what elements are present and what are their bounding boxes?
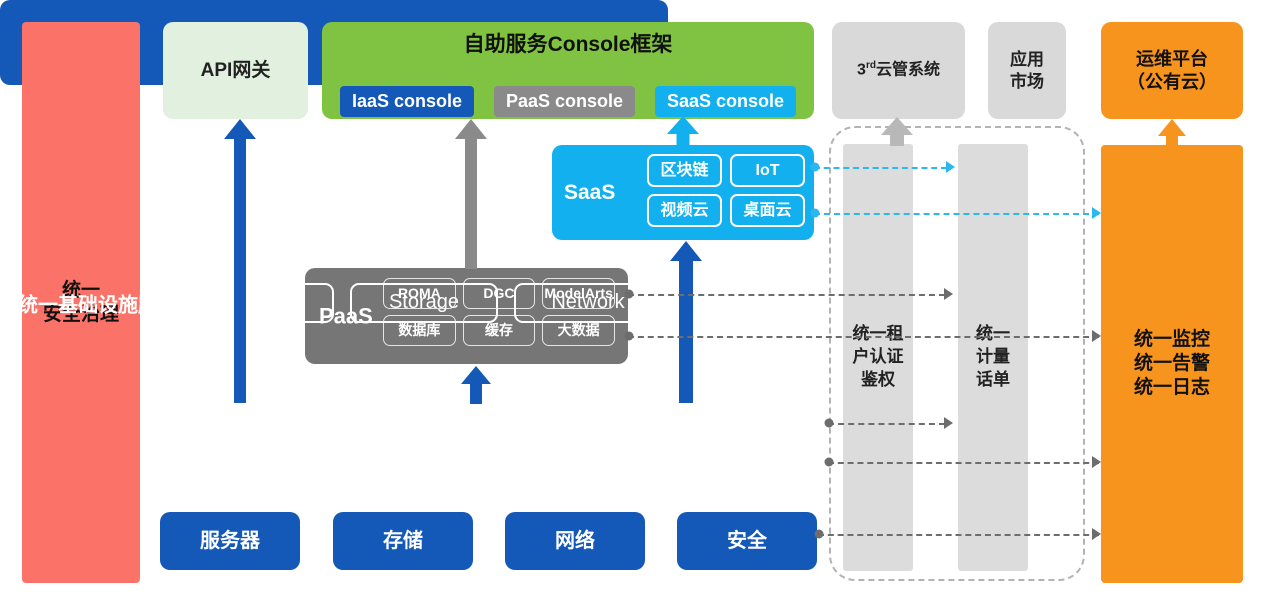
saas-service-video-cloud[interactable]: 视频云 — [647, 194, 722, 227]
hardware-network-box: 网络 — [505, 512, 645, 570]
arrow-saas-to-console — [667, 116, 699, 146]
dashed-start-dot — [625, 290, 634, 299]
arrow-head-up-icon — [461, 366, 491, 384]
dashed-start-dot — [825, 458, 834, 467]
self-service-console-frame: 自助服务Console框架 IaaS console PaaS console … — [322, 22, 814, 119]
hardware-server-label: 服务器 — [200, 529, 260, 554]
iaas-console-pill[interactable]: IaaS console — [340, 86, 474, 117]
arrow-head-right-icon — [1092, 207, 1101, 219]
dashed-saas-to-metering — [814, 167, 947, 169]
hardware-security-box: 安全 — [677, 512, 817, 570]
console-pill-group: IaaS console PaaS console SaaS console — [322, 86, 814, 117]
saas-service-iot[interactable]: IoT — [730, 154, 805, 187]
console-frame-title: 自助服务Console框架 — [322, 32, 814, 58]
application-market-box: 应用 市场 — [988, 22, 1066, 119]
application-market-label: 应用 市场 — [1010, 49, 1044, 92]
ops-platform-label: 运维平台 （公有云） — [1127, 48, 1217, 93]
saas-layer-label: SaaS — [564, 179, 615, 205]
infrastructure-service-group: Compute Storage Network CCE — [186, 283, 826, 323]
dashed-paas-to-ops — [628, 336, 1099, 338]
third-party-system-label: 3rd云管系统 — [857, 60, 940, 80]
ops-platform-public-cloud-box: 运维平台 （公有云） — [1101, 22, 1243, 119]
hardware-server-box: 服务器 — [160, 512, 300, 570]
arrow-head-right-icon — [944, 417, 953, 429]
arrow-head-up-icon — [667, 116, 699, 134]
arrow-infra-to-api-gateway — [224, 119, 256, 403]
dashed-infra-to-ops — [828, 462, 1099, 464]
arrow-head-right-icon — [946, 161, 955, 173]
unified-infrastructure-label: 统一基础设施服务 — [18, 288, 178, 317]
unified-monitoring-alarm-log-pillar: 统一监控 统一告警 统一日志 — [1101, 145, 1243, 583]
dashed-start-dot — [811, 209, 820, 218]
dashed-hardware-to-ops — [818, 534, 1099, 536]
infrastructure-service-compute[interactable]: Compute — [186, 283, 334, 323]
hardware-security-label: 安全 — [727, 529, 767, 554]
saas-service-grid: 区块链 IoT 视频云 桌面云 — [647, 154, 805, 227]
arrow-infra-to-saas — [670, 241, 702, 403]
arrow-head-right-icon — [1092, 456, 1101, 468]
hardware-storage-box: 存储 — [333, 512, 473, 570]
arrow-paas-to-console — [455, 119, 487, 269]
arrow-head-up-icon — [224, 119, 256, 139]
arrow-head-up-icon — [670, 241, 702, 261]
arrow-infra-to-paas — [460, 366, 492, 404]
arrow-head-up-icon — [881, 117, 913, 135]
dashed-start-dot — [625, 332, 634, 341]
arrow-head-up-icon — [455, 119, 487, 139]
saas-console-pill[interactable]: SaaS console — [655, 86, 796, 117]
paas-console-pill[interactable]: PaaS console — [494, 86, 635, 117]
architecture-diagram: 统一 安全治理 API网关 自助服务Console框架 IaaS console… — [0, 0, 1265, 605]
api-gateway-box: API网关 — [163, 22, 308, 119]
ordinal-superscript: rd — [866, 60, 876, 71]
arrow-head-right-icon — [944, 288, 953, 300]
dashed-saas-to-ops — [814, 213, 1099, 215]
arrow-head-right-icon — [1092, 528, 1101, 540]
saas-layer-box: SaaS 区块链 IoT 视频云 桌面云 — [552, 145, 814, 240]
arrow-head-up-icon — [1158, 119, 1186, 136]
dashed-start-dot — [811, 163, 820, 172]
dashed-start-dot — [825, 419, 834, 428]
unified-metering-billing-label: 统一 计量 话单 — [976, 323, 1010, 392]
dashed-infra-to-auth — [828, 423, 945, 425]
api-gateway-label: API网关 — [201, 59, 271, 83]
saas-service-blockchain[interactable]: 区块链 — [647, 154, 722, 187]
unified-metering-billing-column: 统一 计量 话单 — [958, 144, 1028, 571]
unified-tenant-auth-column: 统一租 户认证 鉴权 — [843, 144, 913, 571]
arrow-head-right-icon — [1092, 330, 1101, 342]
hardware-storage-label: 存储 — [383, 529, 423, 554]
unified-monitoring-label: 统一监控 统一告警 统一日志 — [1134, 328, 1210, 399]
third-party-cloud-management-system-box: 3rd云管系统 — [832, 22, 965, 119]
hardware-network-label: 网络 — [555, 529, 595, 554]
dashed-paas-to-auth — [628, 294, 945, 296]
infrastructure-service-network[interactable]: Network — [514, 283, 662, 323]
arrow-ops-body-to-ops-top — [1156, 119, 1188, 147]
arrow-shared-to-third-party — [881, 117, 913, 145]
unified-tenant-auth-label: 统一租 户认证 鉴权 — [853, 323, 904, 392]
dashed-start-dot — [815, 530, 824, 539]
saas-service-desktop-cloud[interactable]: 桌面云 — [730, 194, 805, 227]
infrastructure-service-storage[interactable]: Storage — [350, 283, 498, 323]
